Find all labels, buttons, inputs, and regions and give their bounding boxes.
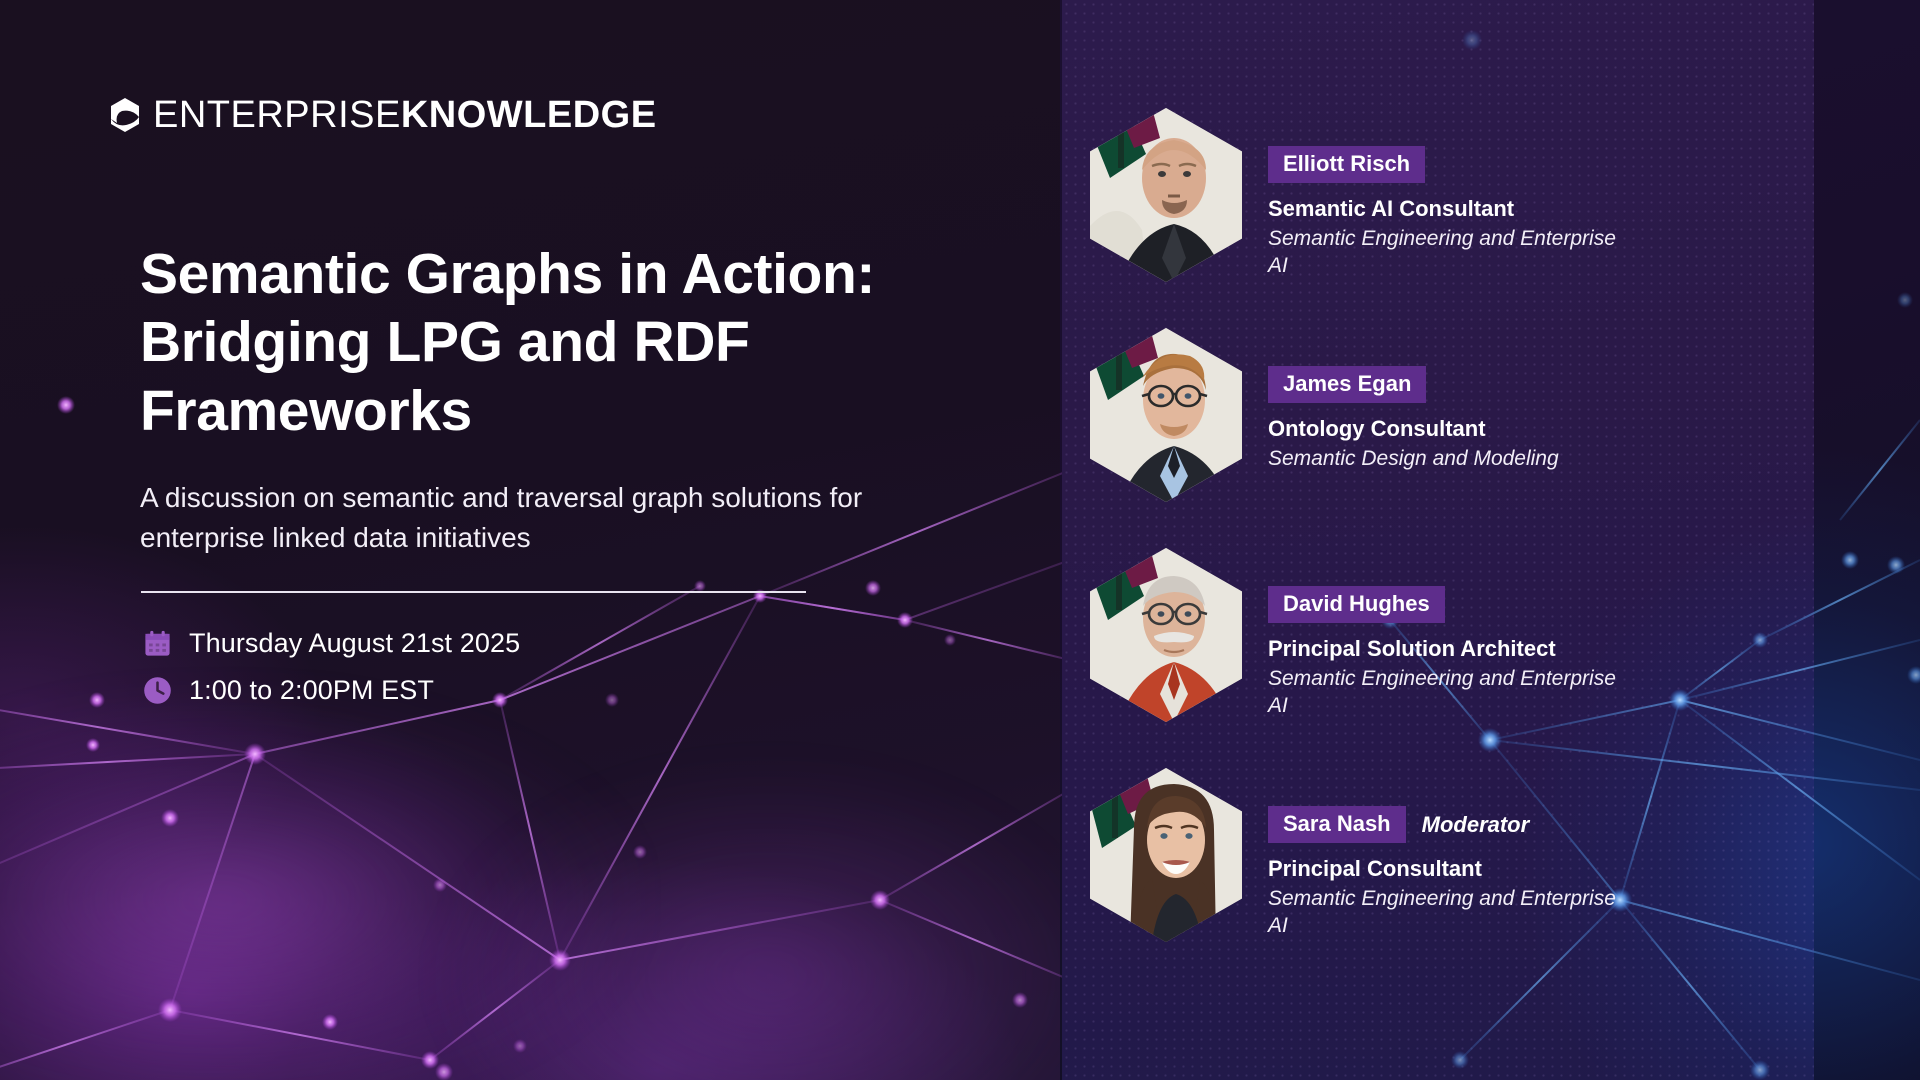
speaker-photo-hexagon (1090, 548, 1242, 722)
speaker-team: Semantic Engineering and Enterprise AI (1268, 225, 1618, 280)
speaker-photo (1090, 768, 1242, 942)
speaker-role: Principal Consultant (1268, 856, 1810, 882)
speaker-team: Semantic Engineering and Enterprise AI (1268, 665, 1618, 720)
speaker-info: Sara Nash Moderator Principal Consultant… (1268, 768, 1810, 940)
speaker-card: James Egan Ontology Consultant Semantic … (1090, 328, 1810, 548)
speaker-photo (1090, 108, 1242, 282)
clock-icon (143, 676, 172, 705)
speaker-name-badge: James Egan (1268, 366, 1426, 403)
speaker-name-row: Elliott Risch (1268, 146, 1810, 183)
speaker-name-badge: Sara Nash (1268, 806, 1406, 843)
speaker-info: Elliott Risch Semantic AI Consultant Sem… (1268, 108, 1810, 280)
speaker-card: Elliott Risch Semantic AI Consultant Sem… (1090, 108, 1810, 328)
speaker-photo-hexagon (1090, 328, 1242, 502)
event-meta: Thursday August 21st 2025 1:00 to 2:00PM… (143, 628, 520, 722)
event-date: Thursday August 21st 2025 (189, 628, 520, 659)
speaker-team: Semantic Engineering and Enterprise AI (1268, 885, 1618, 940)
speaker-name-row: David Hughes (1268, 586, 1810, 623)
speaker-info: James Egan Ontology Consultant Semantic … (1268, 328, 1810, 472)
brand-logo-bold: KNOWLEDGE (401, 94, 657, 136)
speaker-photo (1090, 328, 1242, 502)
calendar-icon (143, 629, 172, 658)
event-time: 1:00 to 2:00PM EST (189, 675, 434, 706)
left-glow-secondary (430, 760, 1110, 1080)
speaker-name-row: James Egan (1268, 366, 1810, 403)
speaker-name-row: Sara Nash Moderator (1268, 806, 1810, 843)
speaker-card: Sara Nash Moderator Principal Consultant… (1090, 768, 1810, 988)
speaker-name-badge: David Hughes (1268, 586, 1445, 623)
speaker-moderator-label: Moderator (1422, 812, 1530, 838)
speaker-name-badge: Elliott Risch (1268, 146, 1425, 183)
speaker-card: David Hughes Principal Solution Architec… (1090, 548, 1810, 768)
webinar-slide: ENTERPRISEKNOWLEDGE Semantic Graphs in A… (0, 0, 1920, 1080)
brand-logo-light: ENTERPRISE (153, 94, 401, 136)
brand-logo: ENTERPRISEKNOWLEDGE (108, 96, 657, 134)
brand-logo-text: ENTERPRISEKNOWLEDGE (153, 96, 657, 134)
speaker-photo (1090, 548, 1242, 722)
event-date-row: Thursday August 21st 2025 (143, 628, 520, 659)
speaker-list: Elliott Risch Semantic AI Consultant Sem… (1090, 108, 1810, 988)
speaker-photo-hexagon (1090, 768, 1242, 942)
speaker-role: Principal Solution Architect (1268, 636, 1810, 662)
title-divider (141, 591, 806, 593)
speaker-role: Ontology Consultant (1268, 416, 1810, 442)
hexagon-logo-icon (108, 97, 142, 133)
speaker-photo-hexagon (1090, 108, 1242, 282)
page-title: Semantic Graphs in Action: Bridging LPG … (140, 240, 1000, 445)
speaker-info: David Hughes Principal Solution Architec… (1268, 548, 1810, 720)
event-time-row: 1:00 to 2:00PM EST (143, 675, 520, 706)
speaker-role: Semantic AI Consultant (1268, 196, 1810, 222)
page-subtitle: A discussion on semantic and traversal g… (140, 478, 880, 558)
speaker-team: Semantic Design and Modeling (1268, 445, 1618, 472)
